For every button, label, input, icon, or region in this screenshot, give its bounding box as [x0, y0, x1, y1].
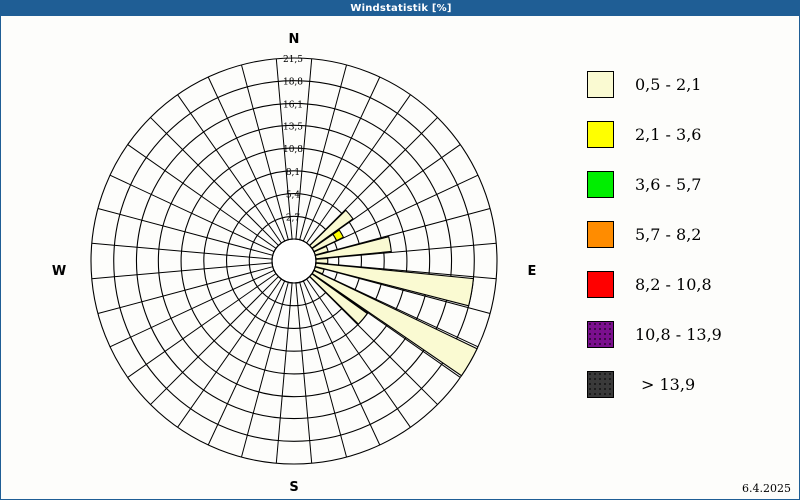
- legend-label: 3,6 - 5,7: [635, 175, 701, 194]
- legend-swatch-2: [587, 171, 614, 198]
- compass-label-south: S: [274, 480, 314, 495]
- legend-swatch-6: [587, 371, 614, 398]
- compass-label-north: N: [274, 32, 314, 47]
- legend-row[interactable]: 10,8 - 13,9: [587, 309, 787, 359]
- legend-label: 2,1 - 3,6: [635, 125, 701, 144]
- radial-tick-2: 8,1: [286, 168, 300, 178]
- radial-tick-0: 2,7: [286, 213, 301, 223]
- speed-legend: 0,5 - 2,12,1 - 3,63,6 - 5,75,7 - 8,28,2 …: [587, 59, 787, 409]
- legend-label: 5,7 - 8,2: [635, 225, 701, 244]
- window-title: Windstatistik [%]: [350, 3, 451, 14]
- radial-tick-5: 16,1: [283, 100, 303, 110]
- legend-label: > 13,9: [641, 375, 695, 394]
- legend-swatch-0: [587, 71, 614, 98]
- windstatistik-window: Windstatistik [%] 2,75,48,110,813,516,11…: [0, 0, 800, 500]
- radial-tick-1: 5,4: [286, 191, 301, 201]
- legend-row[interactable]: 0,5 - 2,1: [587, 59, 787, 109]
- legend-label: 10,8 - 13,9: [635, 325, 722, 344]
- compass-label-west: W: [39, 264, 79, 279]
- radial-tick-labels: 2,75,48,110,813,516,118,821,5: [283, 55, 303, 223]
- legend-row[interactable]: 3,6 - 5,7: [587, 159, 787, 209]
- compass-label-east: E: [512, 264, 552, 279]
- legend-row[interactable]: > 13,9: [587, 359, 787, 409]
- legend-swatch-3: [587, 221, 614, 248]
- legend-row[interactable]: 5,7 - 8,2: [587, 209, 787, 259]
- legend-swatch-1: [587, 121, 614, 148]
- window-titlebar: Windstatistik [%]: [1, 1, 800, 16]
- legend-row[interactable]: 8,2 - 10,8: [587, 259, 787, 309]
- radial-tick-6: 18,8: [283, 78, 303, 88]
- radial-tick-7: 21,5: [283, 55, 303, 65]
- chart-canvas: 2,75,48,110,813,516,118,821,5 N S W E 0,…: [1, 16, 799, 499]
- radial-tick-4: 13,5: [283, 122, 303, 132]
- date-stamp: 6.4.2025: [742, 482, 791, 495]
- radial-tick-3: 10,8: [283, 145, 303, 155]
- legend-label: 0,5 - 2,1: [635, 75, 701, 94]
- legend-swatch-4: [587, 271, 614, 298]
- legend-swatch-5: [587, 321, 614, 348]
- polar-grid: [91, 58, 497, 464]
- legend-row[interactable]: 2,1 - 3,6: [587, 109, 787, 159]
- legend-label: 8,2 - 10,8: [635, 275, 712, 294]
